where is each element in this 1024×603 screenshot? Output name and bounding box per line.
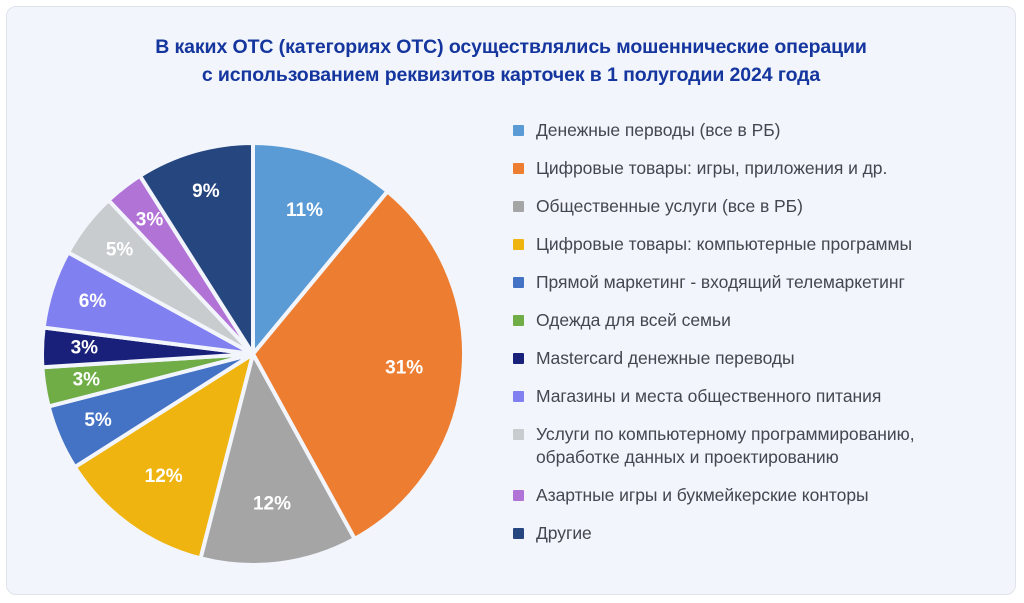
legend-color-swatch-icon xyxy=(513,528,524,539)
chart-legend: Денежные перводы (все в РБ)Цифровые това… xyxy=(513,119,1008,560)
chart-title-line-2: с использованием реквизитов карточек в 1… xyxy=(7,61,1015,89)
pie-slice-label: 6% xyxy=(79,291,107,312)
pie-slice-label: 31% xyxy=(385,357,423,378)
legend-color-swatch-icon xyxy=(513,277,524,288)
legend-item[interactable]: Услуги по компьютерному программированию… xyxy=(513,423,1008,469)
pie-slice-label: 9% xyxy=(192,181,220,202)
pie-slice-label: 5% xyxy=(84,410,112,431)
pie-slice-label: 5% xyxy=(106,240,134,261)
legend-color-swatch-icon xyxy=(513,490,524,501)
pie-slice-label: 12% xyxy=(253,494,291,515)
legend-item-label: Mastercard денежные переводы xyxy=(536,347,795,370)
legend-item-label: Другие xyxy=(536,522,592,545)
legend-item[interactable]: Одежда для всей семьи xyxy=(513,309,1008,332)
legend-item-label: Цифровые товары: компьютерные программы xyxy=(536,233,912,256)
pie-slice-label: 12% xyxy=(145,466,183,487)
pie-slice-label: 3% xyxy=(73,369,101,390)
legend-item[interactable]: Цифровые товары: игры, приложения и др. xyxy=(513,157,1008,180)
pie-chart-svg: 11%31%12%12%5%3%3%6%5%3%9% xyxy=(25,127,485,587)
pie-chart: 11%31%12%12%5%3%3%6%5%3%9% xyxy=(25,127,485,587)
legend-item[interactable]: Денежные перводы (все в РБ) xyxy=(513,119,1008,142)
chart-card: В каких ОТС (категориях ОТС) осуществлял… xyxy=(6,6,1016,595)
legend-color-swatch-icon xyxy=(513,429,524,440)
legend-color-swatch-icon xyxy=(513,239,524,250)
legend-color-swatch-icon xyxy=(513,163,524,174)
legend-item[interactable]: Другие xyxy=(513,522,1008,545)
legend-item[interactable]: Азартные игры и букмейкерские конторы xyxy=(513,484,1008,507)
legend-item-label: Магазины и места общественного питания xyxy=(536,385,881,408)
legend-color-swatch-icon xyxy=(513,201,524,212)
legend-item-label: Прямой маркетинг - входящий телемаркетин… xyxy=(536,271,905,294)
pie-slice-label: 3% xyxy=(71,338,99,359)
legend-item-label: Одежда для всей семьи xyxy=(536,309,731,332)
legend-item-label: Цифровые товары: игры, приложения и др. xyxy=(536,157,887,180)
legend-item[interactable]: Mastercard денежные переводы xyxy=(513,347,1008,370)
legend-item[interactable]: Прямой маркетинг - входящий телемаркетин… xyxy=(513,271,1008,294)
pie-slice-label: 3% xyxy=(136,210,164,231)
legend-item[interactable]: Магазины и места общественного питания xyxy=(513,385,1008,408)
legend-item[interactable]: Цифровые товары: компьютерные программы xyxy=(513,233,1008,256)
legend-color-swatch-icon xyxy=(513,353,524,364)
legend-color-swatch-icon xyxy=(513,315,524,326)
legend-item-label: Азартные игры и букмейкерские конторы xyxy=(536,484,869,507)
legend-color-swatch-icon xyxy=(513,391,524,402)
pie-slice-label: 11% xyxy=(286,200,323,221)
legend-color-swatch-icon xyxy=(513,125,524,136)
chart-title-line-1: В каких ОТС (категориях ОТС) осуществлял… xyxy=(7,33,1015,61)
legend-item-label-line-2: обработке данных и проектированию xyxy=(536,446,915,469)
legend-item[interactable]: Общественные услуги (все в РБ) xyxy=(513,195,1008,218)
chart-title: В каких ОТС (категориях ОТС) осуществлял… xyxy=(7,33,1015,89)
legend-item-label: Общественные услуги (все в РБ) xyxy=(536,195,803,218)
legend-item-label: Услуги по компьютерному программированию… xyxy=(536,423,915,469)
legend-item-label: Денежные перводы (все в РБ) xyxy=(536,119,780,142)
